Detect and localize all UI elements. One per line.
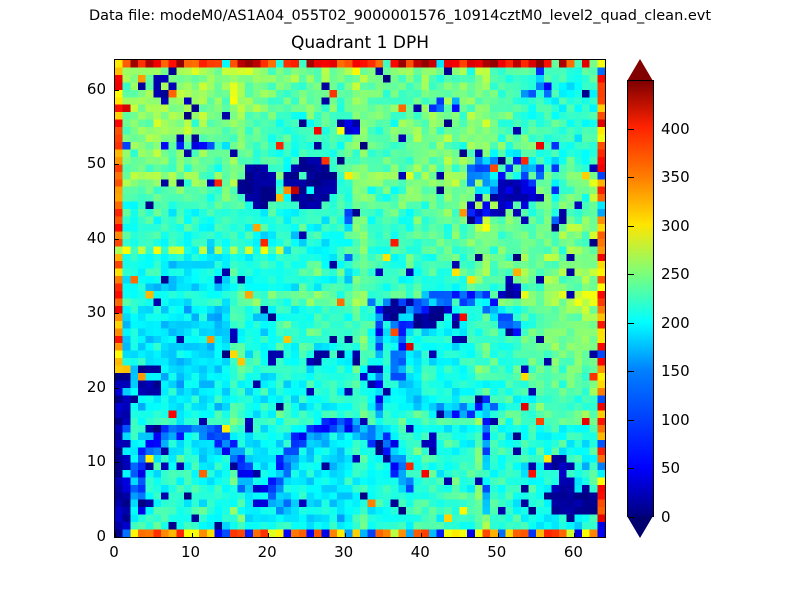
y-tick-mark bbox=[114, 388, 119, 389]
y-tick-mark bbox=[114, 164, 119, 165]
figure: Data file: modeM0/AS1A04_055T02_90000015… bbox=[0, 0, 800, 600]
y-tick-label: 30 bbox=[58, 303, 106, 321]
colorbar-tick-label: 400 bbox=[661, 120, 690, 138]
data-file-suptitle: Data file: modeM0/AS1A04_055T02_90000015… bbox=[0, 6, 800, 26]
colorbar-tick-label: 200 bbox=[661, 314, 690, 332]
colorbar-tick-mark bbox=[628, 323, 634, 324]
x-tick-mark bbox=[345, 533, 346, 538]
x-tick-label: 20 bbox=[237, 543, 297, 561]
colorbar-tick-label: 100 bbox=[661, 411, 690, 429]
colorbar[interactable]: 050100150200250300350400 bbox=[627, 59, 654, 538]
x-tick-label: 50 bbox=[467, 543, 527, 561]
x-tick-mark bbox=[421, 533, 422, 538]
y-tick-label: 20 bbox=[58, 378, 106, 396]
y-tick-mark bbox=[114, 537, 119, 538]
y-tick-label: 40 bbox=[58, 229, 106, 247]
colorbar-tick-label: 0 bbox=[661, 508, 671, 526]
colorbar-tick-mark bbox=[628, 420, 634, 421]
x-tick-mark bbox=[268, 533, 269, 538]
colorbar-extend-max-arrow-icon bbox=[627, 59, 653, 81]
x-tick-label: 10 bbox=[161, 543, 221, 561]
x-tick-mark bbox=[498, 533, 499, 538]
y-tick-label: 10 bbox=[58, 452, 106, 470]
x-tick-mark bbox=[192, 533, 193, 538]
y-tick-mark bbox=[114, 313, 119, 314]
colorbar-extend-min-arrow-icon bbox=[627, 516, 653, 538]
x-tick-mark bbox=[574, 533, 575, 538]
colorbar-tick-label: 50 bbox=[661, 459, 680, 477]
dph-heatmap-image[interactable] bbox=[115, 60, 605, 537]
y-tick-label: 60 bbox=[58, 80, 106, 98]
colorbar-tick-mark bbox=[628, 468, 634, 469]
page-title: Quadrant 1 DPH bbox=[114, 32, 606, 54]
heatmap-axes[interactable] bbox=[114, 59, 606, 538]
colorbar-gradient[interactable] bbox=[627, 80, 654, 517]
y-tick-mark bbox=[114, 462, 119, 463]
colorbar-tick-mark bbox=[628, 129, 634, 130]
y-tick-mark bbox=[114, 239, 119, 240]
colorbar-tick-mark bbox=[628, 226, 634, 227]
colorbar-tick-label: 150 bbox=[661, 362, 690, 380]
y-tick-label: 0 bbox=[58, 527, 106, 545]
y-tick-label: 50 bbox=[58, 154, 106, 172]
x-tick-label: 40 bbox=[390, 543, 450, 561]
colorbar-tick-label: 350 bbox=[661, 168, 690, 186]
colorbar-tick-mark bbox=[628, 274, 634, 275]
x-tick-label: 0 bbox=[84, 543, 144, 561]
colorbar-tick-label: 250 bbox=[661, 265, 690, 283]
colorbar-tick-mark bbox=[628, 371, 634, 372]
x-tick-label: 60 bbox=[543, 543, 603, 561]
y-tick-mark bbox=[114, 90, 119, 91]
colorbar-tick-mark bbox=[628, 177, 634, 178]
colorbar-tick-mark bbox=[628, 517, 634, 518]
colorbar-tick-label: 300 bbox=[661, 217, 690, 235]
x-tick-label: 30 bbox=[314, 543, 374, 561]
